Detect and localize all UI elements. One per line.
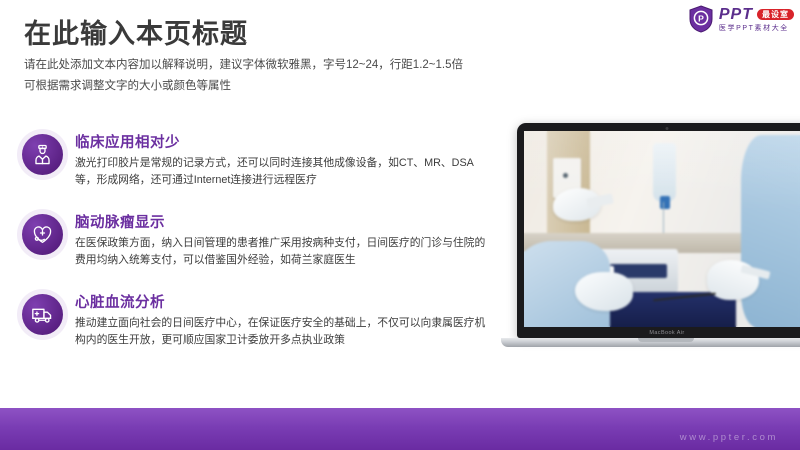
- brand-logo: P PPT 最设室 医学PPT素材大全: [688, 4, 794, 34]
- doctor-icon: [22, 134, 63, 175]
- webcam-icon: [666, 127, 669, 130]
- bullet-description: 在医保政策方面，纳入日间管理的患者推广采用按病种支付，日间医疗的门诊与住院的费用…: [75, 235, 492, 270]
- ambulance-icon: [22, 294, 63, 335]
- list-item[interactable]: 心脏血流分析 推动建立面向社会的日间医疗中心，在保证医疗安全的基础上，不仅可以向…: [22, 291, 492, 350]
- surgical-operation-photo: [524, 131, 800, 327]
- heart-stethoscope-icon: [22, 214, 63, 255]
- laptop-mockup: MacBook Air: [517, 123, 800, 347]
- logo-brand-text: PPT: [719, 7, 753, 23]
- bullet-description: 推动建立面向社会的日间医疗中心，在保证医疗安全的基础上，不仅可以向隶属医疗机构内…: [75, 315, 492, 350]
- bullet-list: 临床应用相对少 激光打印胶片是常规的记录方式，还可以同时连接其他成像设备，如CT…: [22, 131, 492, 371]
- page-subtitle: 请在此处添加文本内容加以解释说明，建议字体微软雅黑，字号12~24，行距1.2~…: [24, 55, 463, 98]
- footer-bar: www.ppter.com: [0, 408, 800, 450]
- laptop-base: [501, 338, 800, 347]
- laptop-lid: MacBook Air: [517, 123, 800, 338]
- subtitle-line-1: 请在此处添加文本内容加以解释说明，建议字体微软雅黑，字号12~24，行距1.2~…: [24, 55, 463, 76]
- laptop-model-label: MacBook Air: [517, 330, 800, 336]
- shield-p-icon: P: [688, 5, 714, 33]
- page-title: 在此输入本页标题: [24, 12, 248, 51]
- bullet-description: 激光打印胶片是常规的记录方式，还可以同时连接其他成像设备，如CT、MR、DSA等…: [75, 155, 492, 190]
- watermark-url: www.ppter.com: [680, 432, 778, 443]
- laptop-screen: [524, 131, 800, 327]
- list-item[interactable]: 临床应用相对少 激光打印胶片是常规的记录方式，还可以同时连接其他成像设备，如CT…: [22, 131, 492, 190]
- bullet-title: 脑动脉瘤显示: [75, 211, 492, 232]
- list-item[interactable]: 脑动脉瘤显示 在医保政策方面，纳入日间管理的患者推广采用按病种支付，日间医疗的门…: [22, 211, 492, 270]
- bullet-title: 心脏血流分析: [75, 291, 492, 312]
- bullet-title: 临床应用相对少: [75, 131, 492, 152]
- subtitle-line-2: 可根据需求调整文字的大小或颜色等属性: [24, 76, 463, 97]
- svg-text:P: P: [698, 14, 704, 24]
- logo-badge: 最设室: [757, 9, 794, 20]
- logo-tagline: 医学PPT素材大全: [719, 25, 794, 32]
